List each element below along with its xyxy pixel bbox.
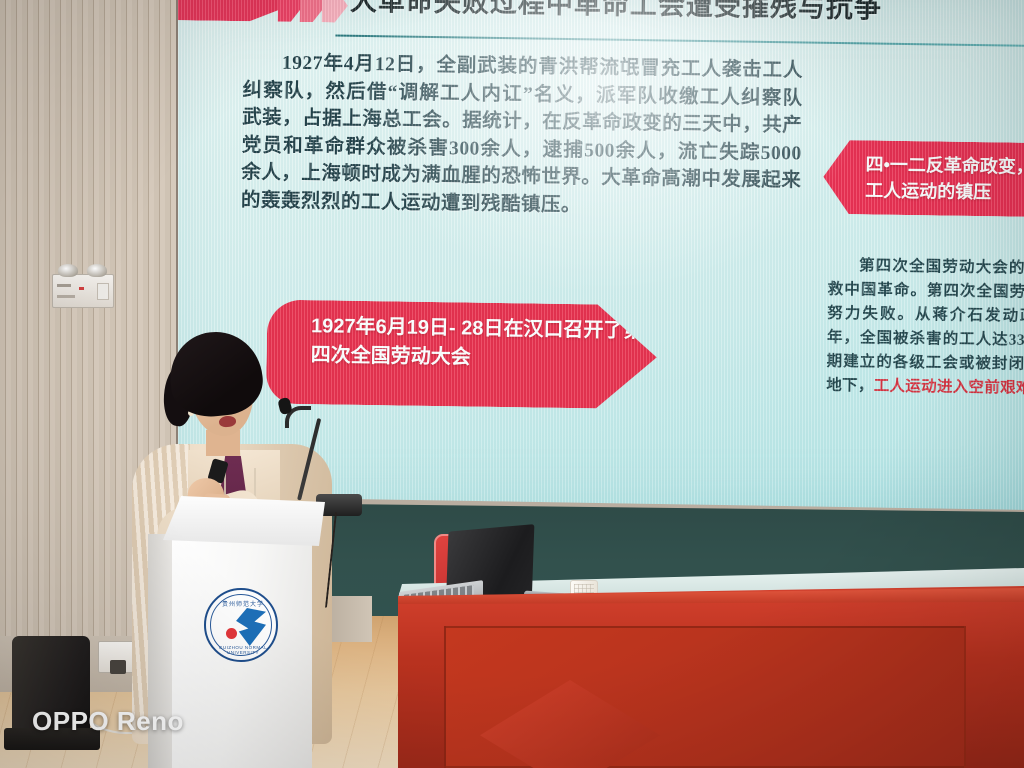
label-strip [57,295,75,298]
label-strip [57,284,71,287]
photo-scene: 大革命失败过程中革命工会遭受摧残与抗争 1927年4月12日，全副武装的青洪帮流… [0,0,1024,768]
podium-top-surface [163,496,325,546]
emblem-red-dot-icon [226,628,237,639]
slide-body-text: 1927年4月12日，全副武装的青洪帮流氓冒充工人袭击工人纠察队，然后借“调解工… [241,49,803,222]
university-emblem-icon: 贵州师范大学 GUIZHOU NORMAL UNIVERSITY [204,588,278,662]
emergency-light-fixture [52,274,114,308]
lamp-head-icon [87,264,107,277]
emblem-chinese-name: 贵州师范大学 [218,599,268,608]
indicator-led [79,287,84,290]
right-column-text: 第四次全国劳动大会的中心议题是如何挽救中国革命。第四次全国劳动大会挽救革命的努力… [826,257,1024,394]
emblem-english-name: GUIZHOU NORMAL UNIVERSITY [212,645,274,653]
right-column-highlight: 工人运动进入空前艰难的时期。 [874,378,1024,398]
slide-title-row: 大革命失败过程中革命工会遭受摧残与抗争 [172,0,1024,37]
slide-right-column: 第四次全国劳动大会的中心议题是如何挽救中国革命。第四次全国劳动大会挽救革命的努力… [826,254,1024,403]
camera-watermark: OPPO Reno [32,706,184,737]
title-arrow-icon [172,0,292,22]
title-underline [335,35,1024,47]
lamp-head-icon [58,264,78,277]
banner-right-label: 四•一二反革命政变，蒋介石对工人运动的镇压 [823,140,1024,218]
test-panel [97,283,109,300]
slide-title: 大革命失败过程中革命工会遭受摧残与抗争 [350,0,883,26]
chevron-icon [322,0,349,23]
